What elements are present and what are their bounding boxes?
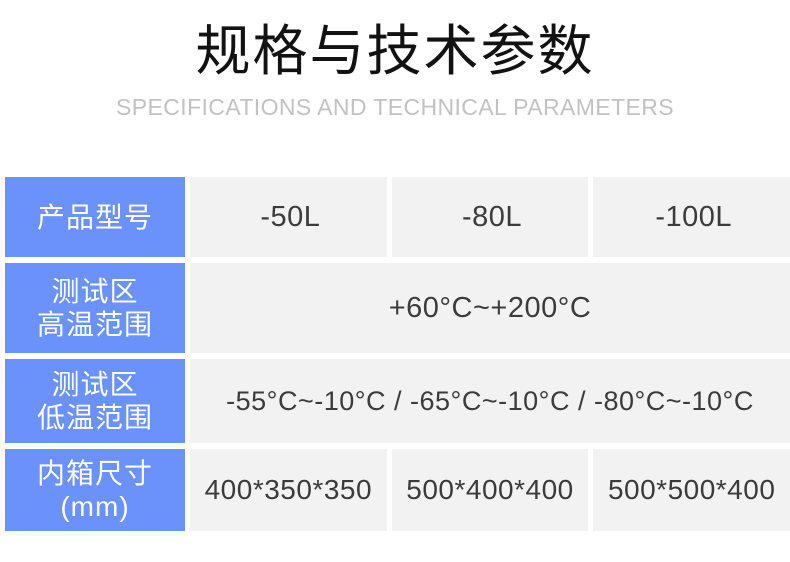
cell-low-temp-range-value: -55°C~-10°C / -65°C~-10°C / -80°C~-10°C [190,359,790,443]
row-label-low-temp-range: 测试区 低温范围 [5,359,185,443]
table-row: 测试区 高温范围 +60°C~+200°C [5,263,790,353]
row-label-line1: 内箱尺寸 [9,457,181,490]
cell-dimensions-50l: 400*350*350 [190,449,387,531]
table-row: 内箱尺寸 (mm) 400*350*350 500*400*400 500*50… [5,449,790,531]
row-label-inner-dimensions: 内箱尺寸 (mm) [5,449,185,531]
specifications-page: 规格与技术参数 SPECIFICATIONS AND TECHNICAL PAR… [0,0,790,562]
cell-dimensions-80l: 500*400*400 [392,449,589,531]
row-label-line1: 测试区 [9,368,181,401]
table-row: 测试区 低温范围 -55°C~-10°C / -65°C~-10°C / -80… [5,359,790,443]
cell-dimensions-100l: 500*500*400 [593,449,790,531]
table-row: 产品型号 -50L -80L -100L [5,177,790,257]
cell-value: -80L [462,200,522,234]
row-label-high-temp-range: 测试区 高温范围 [5,263,185,353]
cell-value: -55°C~-10°C / -65°C~-10°C / -80°C~-10°C [226,384,754,418]
row-label-product-model: 产品型号 [5,177,185,257]
cell-value: +60°C~+200°C [389,291,592,325]
row-label-line1: 测试区 [9,275,181,308]
specifications-table: 产品型号 -50L -80L -100L 测试区 高温范围 [5,177,790,531]
row-label-line2: 高温范围 [9,308,181,341]
page-subtitle: SPECIFICATIONS AND TECHNICAL PARAMETERS [0,92,790,122]
cell-value: 400*350*350 [205,473,372,507]
row-label-line1: 产品型号 [9,201,181,234]
cell-value: -100L [655,200,732,234]
cell-value: 500*400*400 [406,473,573,507]
cell-model-80l: -80L [392,177,589,257]
cell-value: 500*500*400 [608,473,775,507]
row-label-line2: 低温范围 [9,401,181,434]
cell-high-temp-range-value: +60°C~+200°C [190,263,790,353]
page-title: 规格与技术参数 [0,16,790,86]
cell-model-50l: -50L [190,177,387,257]
cell-model-100l: -100L [593,177,790,257]
page-header: 规格与技术参数 SPECIFICATIONS AND TECHNICAL PAR… [0,0,790,122]
row-label-line2: (mm) [9,490,181,523]
cell-value: -50L [260,200,320,234]
